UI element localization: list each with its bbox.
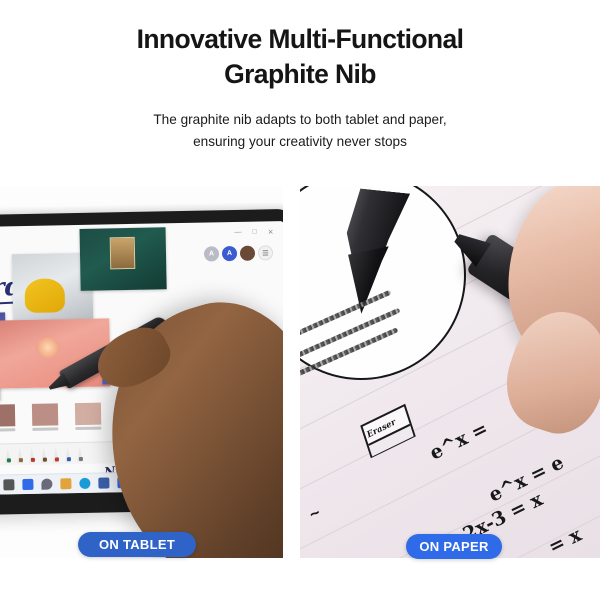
lasso-tool[interactable] — [77, 447, 84, 462]
avatar[interactable]: A — [204, 246, 219, 261]
edge-icon[interactable] — [79, 478, 90, 489]
swatch-item[interactable] — [0, 404, 15, 426]
widgets-icon[interactable] — [22, 479, 33, 490]
color-swatch[interactable] — [32, 403, 58, 425]
pen-tool[interactable] — [17, 448, 24, 463]
comparison-panels: — □ ✕ A A ☰ oard — [0, 186, 600, 558]
pen-tool[interactable] — [29, 448, 36, 463]
maximize-icon[interactable]: □ — [252, 229, 256, 237]
more-avatars-icon[interactable]: ☰ — [258, 245, 273, 260]
swatch-item[interactable] — [32, 403, 58, 425]
eraser-tool[interactable] — [65, 447, 72, 462]
subtitle-line-1: The graphite nib adapts to both tablet a… — [92, 109, 508, 130]
collaborator-avatars: A A ☰ — [204, 245, 273, 261]
page-title: Innovative Multi-Functional Graphite Nib — [0, 22, 600, 92]
badge-on-tablet: ON TABLET — [78, 532, 196, 557]
window-controls: — □ ✕ — [234, 228, 273, 237]
tablet-panel: — □ ✕ A A ☰ oard — [0, 186, 283, 558]
pen-tool[interactable] — [5, 448, 12, 463]
pen-tool[interactable] — [41, 448, 48, 463]
color-swatch[interactable] — [75, 403, 101, 425]
swatch-label — [75, 427, 101, 430]
store-icon[interactable] — [98, 477, 109, 488]
collage-image[interactable] — [80, 227, 167, 291]
file-explorer-icon[interactable] — [3, 479, 14, 490]
page-subtitle: The graphite nib adapts to both tablet a… — [0, 109, 600, 151]
color-swatch-row — [0, 403, 101, 427]
panel-divider — [283, 186, 300, 558]
swatch-label — [0, 428, 15, 431]
avatar[interactable] — [240, 246, 255, 261]
subtitle-line-2: ensuring your creativity never stops — [92, 131, 508, 152]
close-icon[interactable]: ✕ — [268, 228, 274, 236]
color-swatch[interactable] — [0, 404, 15, 426]
avatar[interactable]: A — [222, 246, 237, 261]
paper-panel: ↗ Eraser e^x = e^x = e 2x-3 = x = x ~ — [300, 186, 600, 558]
header-section: Innovative Multi-Functional Graphite Nib… — [0, 0, 600, 152]
highlighter-tool[interactable] — [53, 447, 60, 462]
folder-icon[interactable] — [60, 478, 71, 489]
swatch-item[interactable] — [75, 403, 101, 425]
minimize-icon[interactable]: — — [234, 229, 241, 237]
swatch-label — [32, 427, 58, 430]
headline-line-2: Graphite Nib — [52, 57, 548, 92]
headline-line-1: Innovative Multi-Functional — [52, 22, 548, 57]
chat-icon[interactable] — [41, 479, 52, 490]
badge-on-paper: ON PAPER — [406, 534, 502, 559]
